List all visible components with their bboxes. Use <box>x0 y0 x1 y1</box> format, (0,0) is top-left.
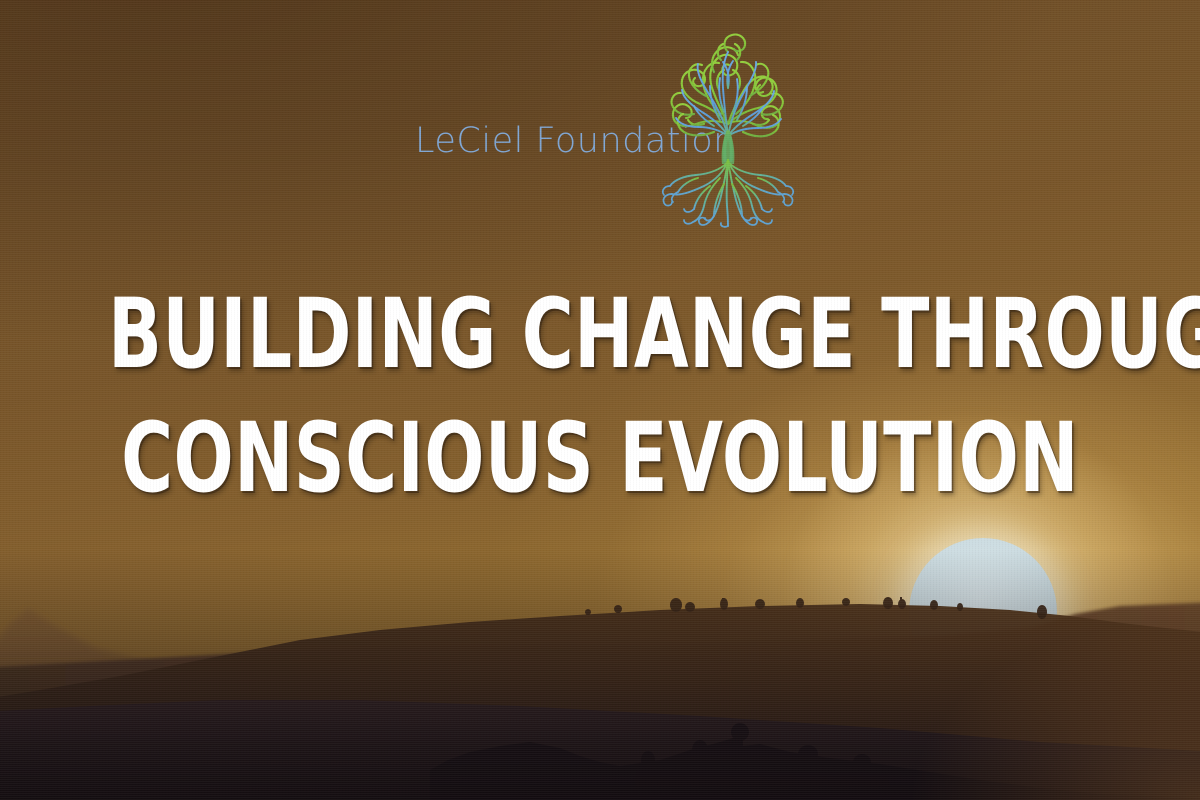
hero-banner: LeCiel Foundation <box>0 0 1200 800</box>
tree-of-life-logo-icon <box>658 28 798 228</box>
logo[interactable]: LeCiel Foundation <box>415 28 795 228</box>
